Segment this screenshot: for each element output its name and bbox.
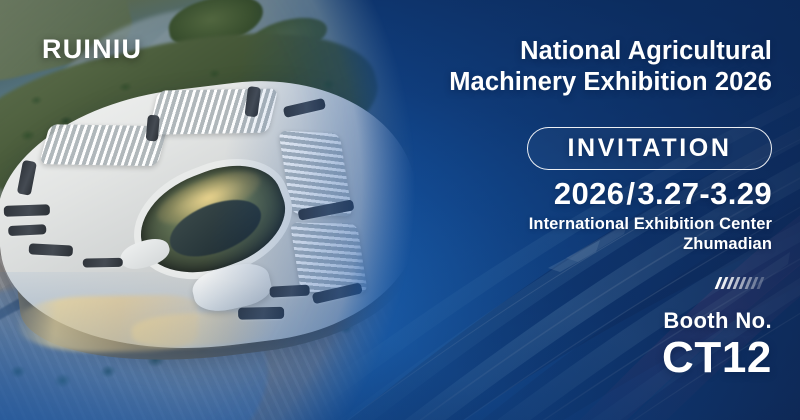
- event-title-line-2: Machinery Exhibition 2026: [412, 67, 772, 98]
- event-title: National Agricultural Machinery Exhibiti…: [412, 36, 772, 98]
- booth-label: Booth No.: [412, 308, 772, 334]
- invitation-badge: INVITATION: [527, 127, 772, 170]
- booth-number: CT12: [412, 333, 772, 383]
- event-date-separator: /: [624, 176, 637, 211]
- brand-logo: RUINIU: [42, 34, 142, 65]
- invitation-badge-label: INVITATION: [568, 134, 732, 163]
- event-date-year: 2026: [554, 176, 625, 211]
- content-column: National Agricultural Machinery Exhibiti…: [400, 0, 800, 420]
- venue-line-2: Zhumadian: [412, 234, 772, 254]
- venue-line-1: International Exhibition Center: [412, 214, 772, 234]
- invitation-banner: RUINIU National Agricultural Machinery E…: [0, 0, 800, 420]
- decorative-dashes: [698, 276, 762, 289]
- event-date-range: 3.27-3.29: [637, 176, 772, 211]
- venue: International Exhibition Center Zhumadia…: [412, 214, 772, 254]
- event-title-line-1: National Agricultural: [412, 36, 772, 67]
- event-date: 2026/3.27-3.29: [412, 176, 772, 212]
